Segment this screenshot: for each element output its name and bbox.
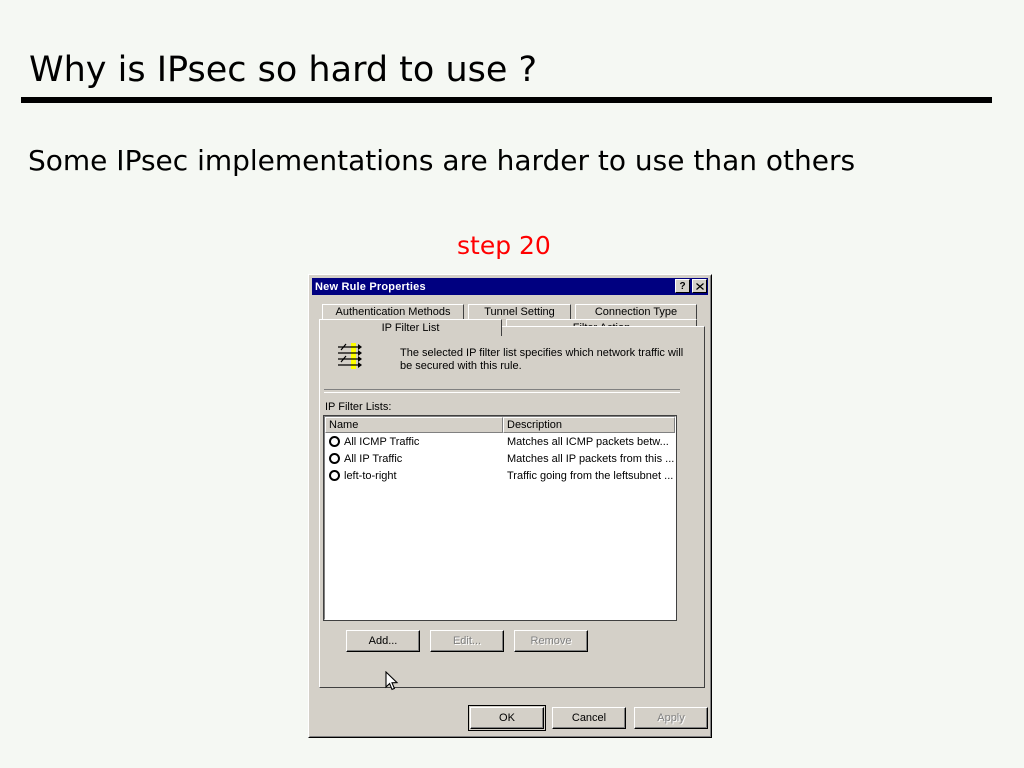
step-label: step 20 [457, 231, 551, 260]
row-name-text: left-to-right [344, 470, 397, 482]
description-row: The selected IP filter list specifies wh… [334, 341, 692, 373]
tab-ip-filter-list[interactable]: IP Filter List [319, 319, 502, 336]
title-underline-rule [21, 97, 992, 103]
tab-authentication-methods[interactable]: Authentication Methods [322, 304, 464, 320]
row-name-cell: left-to-right [325, 470, 503, 482]
slide-subtitle: Some IPsec implementations are harder to… [28, 144, 855, 177]
radio-button-icon[interactable] [329, 453, 340, 464]
row-name-text: All IP Traffic [344, 453, 402, 465]
apply-button: Apply [634, 707, 708, 729]
radio-button-icon[interactable] [329, 436, 340, 447]
row-description-cell: Matches all ICMP packets betw... [503, 436, 675, 448]
titlebar-button-group: ? [675, 279, 707, 293]
table-row[interactable]: All ICMP Traffic Matches all ICMP packet… [325, 433, 675, 450]
ip-filter-icon [334, 341, 364, 371]
edit-button: Edit... [430, 630, 504, 652]
table-row[interactable]: left-to-right Traffic going from the lef… [325, 467, 675, 484]
row-name-cell: All IP Traffic [325, 453, 503, 465]
new-rule-properties-dialog: New Rule Properties ? Authentication Met… [308, 274, 712, 738]
ip-filter-lists-listview[interactable]: Name Description All ICMP Traffic Matche… [324, 416, 676, 620]
dialog-inner-frame: New Rule Properties ? Authentication Met… [309, 275, 711, 737]
listview-header: Name Description [325, 417, 675, 433]
tab-tunnel-setting[interactable]: Tunnel Setting [468, 304, 571, 320]
column-header-name[interactable]: Name [325, 417, 503, 433]
dialog-title-text: New Rule Properties [312, 281, 426, 293]
slide: Why is IPsec so hard to use ? Some IPsec… [0, 0, 1024, 768]
dialog-titlebar[interactable]: New Rule Properties ? [312, 278, 708, 295]
tab-connection-type[interactable]: Connection Type [575, 304, 697, 320]
list-action-buttons: Add... Edit... Remove [346, 630, 588, 652]
page-title: Why is IPsec so hard to use ? [29, 50, 537, 90]
ok-button[interactable]: OK [470, 707, 544, 729]
dialog-action-buttons: OK Cancel Apply [470, 707, 708, 729]
separator-groove [324, 389, 680, 393]
row-description-cell: Matches all IP packets from this ... [503, 453, 675, 465]
remove-button: Remove [514, 630, 588, 652]
add-button[interactable]: Add... [346, 630, 420, 652]
ip-filter-lists-label: IP Filter Lists: [325, 401, 391, 413]
ip-filter-list-description: The selected IP filter list specifies wh… [400, 347, 692, 373]
row-description-cell: Traffic going from the leftsubnet ... [503, 470, 675, 482]
column-header-description[interactable]: Description [503, 417, 675, 433]
row-name-text: All ICMP Traffic [344, 436, 419, 448]
cancel-button[interactable]: Cancel [552, 707, 626, 729]
close-icon[interactable] [692, 279, 707, 293]
tab-page-ip-filter-list: The selected IP filter list specifies wh… [319, 326, 705, 688]
radio-button-icon[interactable] [329, 470, 340, 481]
row-name-cell: All ICMP Traffic [325, 436, 503, 448]
help-icon[interactable]: ? [675, 279, 690, 293]
table-row[interactable]: All IP Traffic Matches all IP packets fr… [325, 450, 675, 467]
